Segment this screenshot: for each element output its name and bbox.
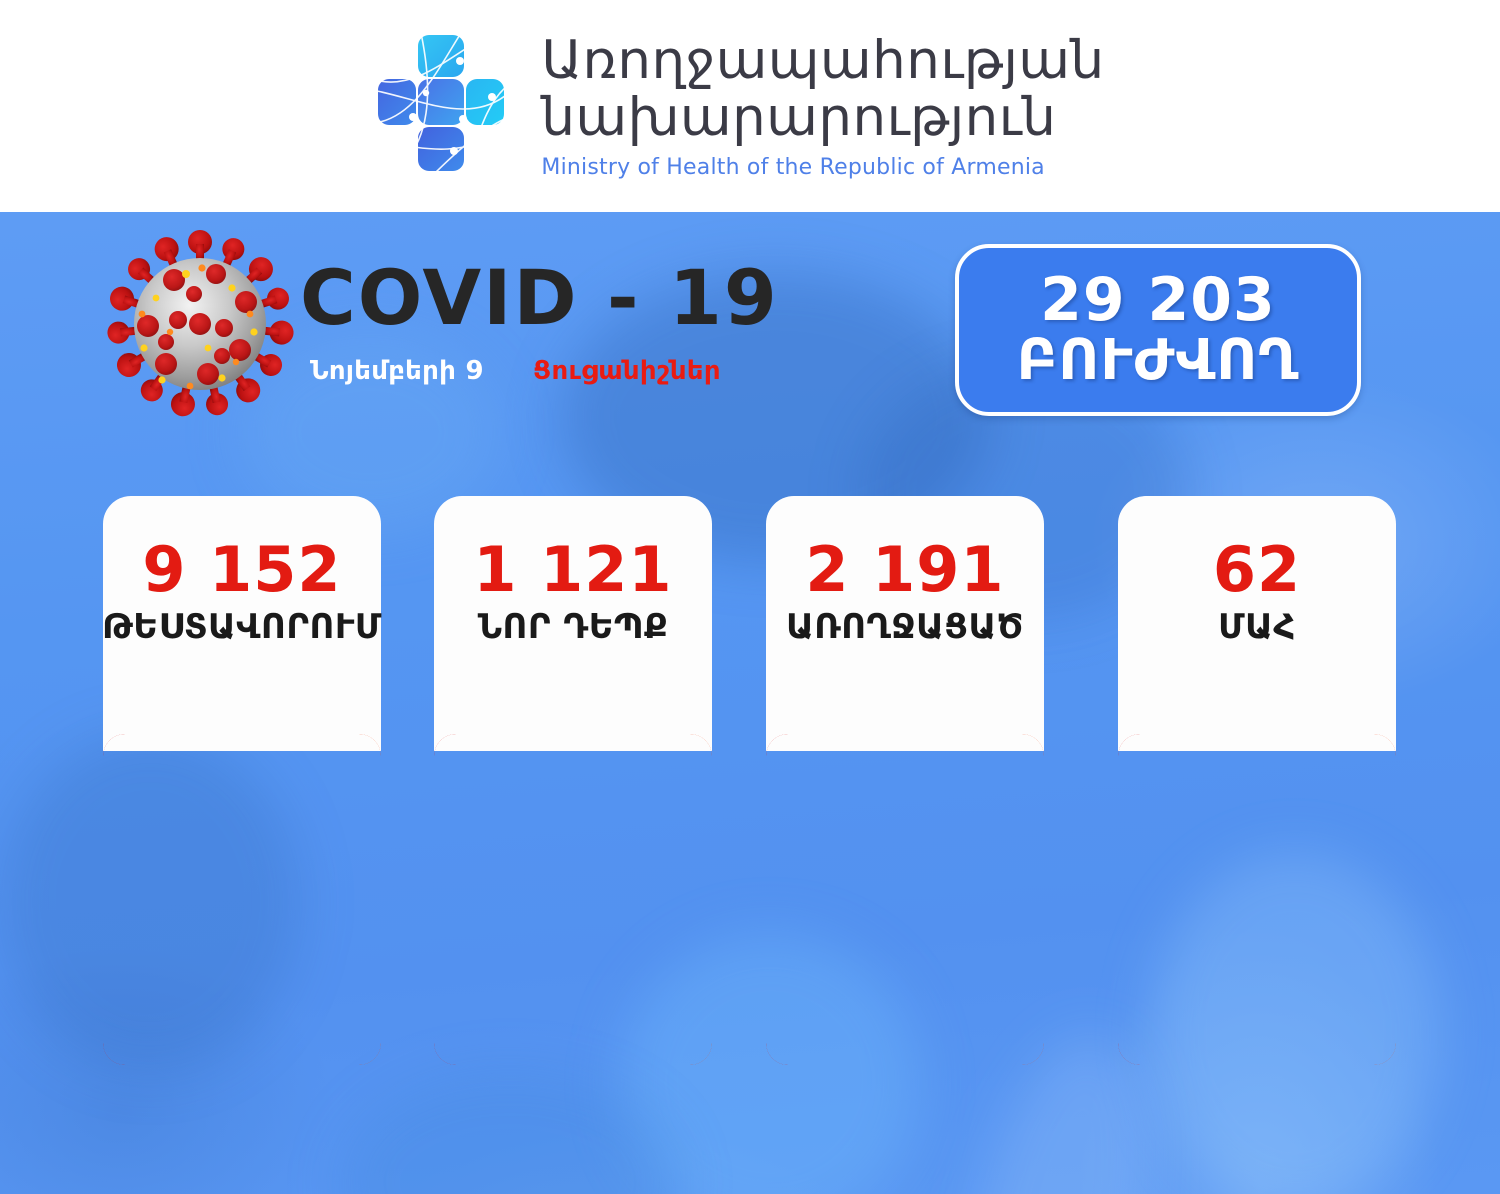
stat-card-daily-panel: 62 ՄԱՀ <box>1118 496 1396 751</box>
daily-value: 2 191 <box>805 538 1004 602</box>
total-label-line-1: ԸՆԴՀԱՆՈՒՐ <box>114 908 370 944</box>
total-value: 285 057 <box>772 838 1038 898</box>
total-value: 322 364 <box>440 838 706 898</box>
daily-label: ԱՌՈՂՋԱՑԱԾ <box>786 608 1024 646</box>
stat-card-new-cases: 1 121 ՆՈՐ ԴԵՊՔ 322 364 ԸՆԴՀԱՆՈՒՐ ԴԵՊՔ <box>434 496 712 1065</box>
total-label: ԸՆԴՀԱՆՈՒՐ ԴԵՊՔ <box>473 908 673 980</box>
daily-value: 1 121 <box>473 538 672 602</box>
total-label-line-2: ՄԱՀ <box>1157 944 1357 980</box>
stat-card-recovered: 2 191 ԱՌՈՂՋԱՑԱԾ 285 057 ԸՆԴՀԱՆՈՒՐ ԱՌՈՂՋԱ… <box>766 496 1044 1065</box>
total-label-line-1: ԸՆԴՀԱՆՈՒՐ <box>473 908 673 944</box>
stat-card-deaths: 62 ՄԱՀ 6 762 ԸՆԴՀԱՆՈՒՐ ՄԱՀ <box>1118 496 1396 1065</box>
total-label: ԸՆԴՀԱՆՈՒՐ ԱՌՈՂՋԱՑԱԾ <box>796 908 1013 980</box>
total-label: ԸՆԴՀԱՆՈՒՐ ԹԵՍՏԱՎՈՐՈՒՄ <box>114 908 370 980</box>
daily-label: ՄԱՀ <box>1218 608 1296 646</box>
total-value: 2 192 270 <box>92 838 392 898</box>
daily-value: 62 <box>1213 538 1301 602</box>
stat-card-grid: 9 152 ԹԵՍՏԱՎՈՐՈՒՄ 2 192 270 ԸՆԴՀԱՆՈՒՐ ԹԵ… <box>0 0 1500 1194</box>
stat-card-total-panel: 285 057 ԸՆԴՀԱՆՈՒՐ ԱՌՈՂՋԱՑԱԾ <box>766 734 1044 1065</box>
stat-card-total-panel: 6 762 ԸՆԴՀԱՆՈՒՐ ՄԱՀ <box>1118 734 1396 1065</box>
stat-card-daily-panel: 1 121 ՆՈՐ ԴԵՊՔ <box>434 496 712 751</box>
total-label-line-1: ԸՆԴՀԱՆՈՒՐ <box>1157 908 1357 944</box>
stat-card-testing: 9 152 ԹԵՍՏԱՎՈՐՈՒՄ 2 192 270 ԸՆԴՀԱՆՈՒՐ ԹԵ… <box>103 496 381 1065</box>
stat-card-daily-panel: 2 191 ԱՌՈՂՋԱՑԱԾ <box>766 496 1044 751</box>
stat-card-total-panel: 2 192 270 ԸՆԴՀԱՆՈՒՐ ԹԵՍՏԱՎՈՐՈՒՄ <box>103 734 381 1065</box>
total-label-line-2: ԴԵՊՔ <box>473 944 673 980</box>
stat-card-total-panel: 322 364 ԸՆԴՀԱՆՈՒՐ ԴԵՊՔ <box>434 734 712 1065</box>
total-label-line-2: ԱՌՈՂՋԱՑԱԾ <box>796 944 1013 980</box>
total-value: 6 762 <box>1165 838 1349 898</box>
total-label-line-1: ԸՆԴՀԱՆՈՒՐ <box>796 908 1013 944</box>
total-label: ԸՆԴՀԱՆՈՒՐ ՄԱՀ <box>1157 908 1357 980</box>
daily-label: ԹԵՍՏԱՎՈՐՈՒՄ <box>102 608 382 646</box>
daily-value: 9 152 <box>142 538 341 602</box>
stat-card-daily-panel: 9 152 ԹԵՍՏԱՎՈՐՈՒՄ <box>103 496 381 751</box>
total-label-line-2: ԹԵՍՏԱՎՈՐՈՒՄ <box>114 944 370 980</box>
covid-infographic: Առողջապահության նախարարություն Ministry … <box>0 0 1500 1194</box>
daily-label: ՆՈՐ ԴԵՊՔ <box>478 608 669 646</box>
